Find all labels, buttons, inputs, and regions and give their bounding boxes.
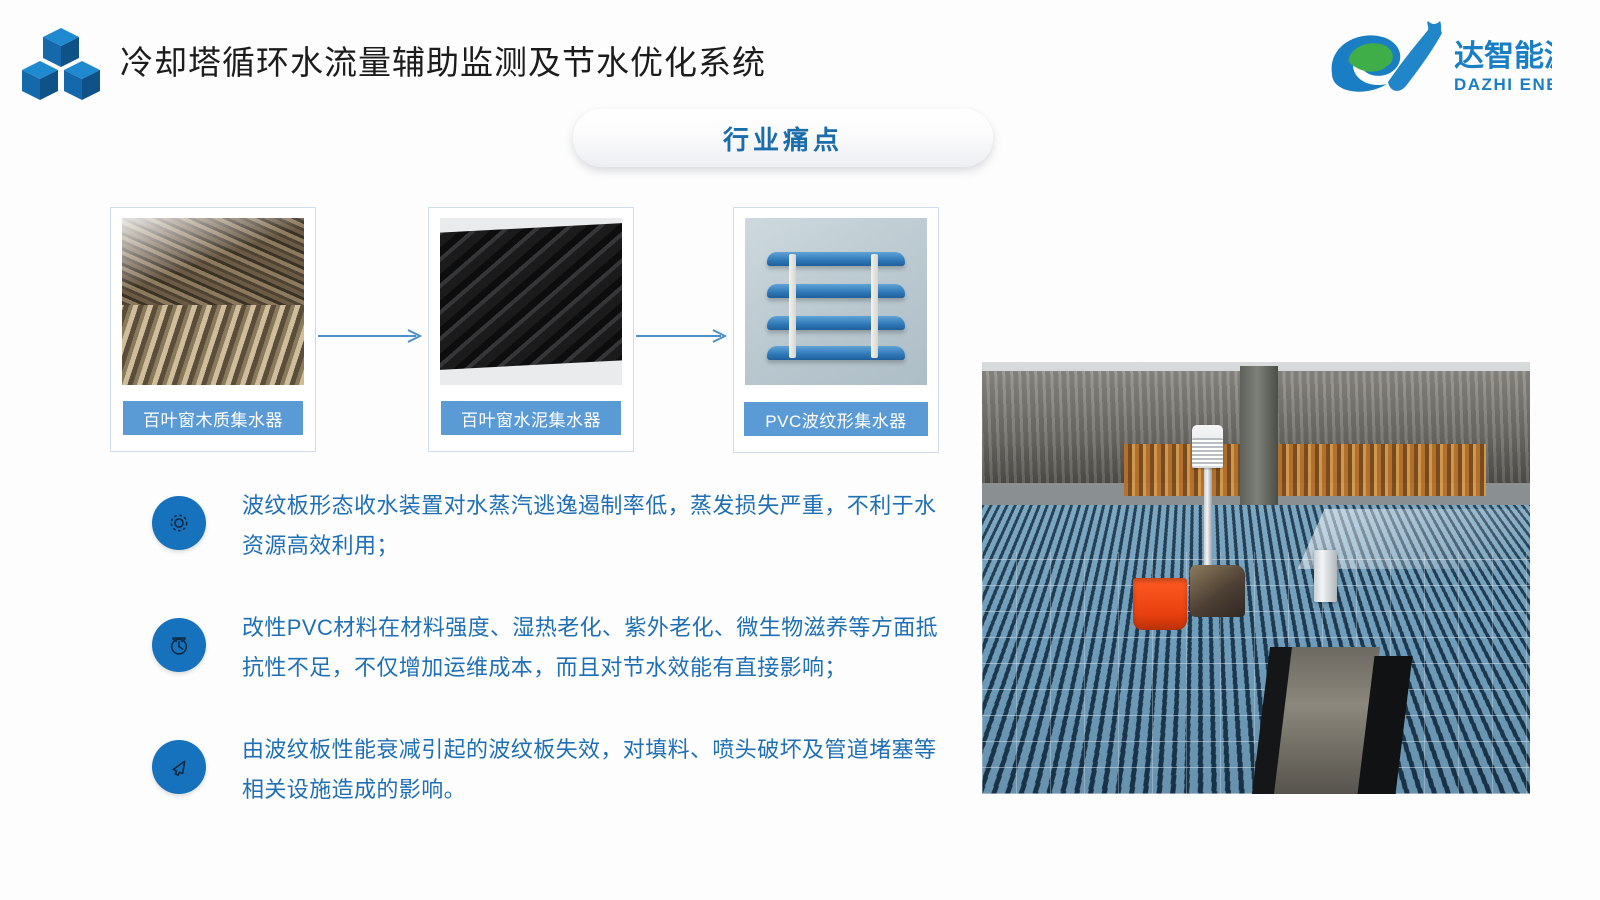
slide-header: 冷却塔循环水流量辅助监测及节水优化系统 达智能源 DAZHI ENERGY — [0, 0, 1600, 118]
list-item-text: 改性PVC材料在材料强度、湿热老化、紫外老化、微生物滋养等方面抵抗性不足，不仅增… — [242, 608, 952, 688]
cursor-pointer-icon — [152, 740, 206, 794]
wooden-louver-collector-photo — [122, 218, 304, 385]
list-item-text: 波纹板形态收水装置对水蒸汽逃逸遏制率低，蒸发损失严重，不利于水资源高效利用； — [242, 486, 952, 566]
alarm-clock-icon — [152, 618, 206, 672]
list-item-text: 由波纹板性能衰减引起的波纹板失效，对填料、喷头破坏及管道堵塞等相关设施造成的影响… — [242, 730, 952, 810]
collector-card-label: 百叶窗水泥集水器 — [441, 401, 621, 435]
company-logo: 达智能源 DAZHI ENERGY — [1302, 16, 1552, 108]
pvc-corrugated-collector-photo — [745, 218, 927, 385]
collector-card-label: PVC波纹形集水器 — [744, 402, 928, 436]
brand-name-cn: 达智能源 — [1454, 40, 1552, 73]
list-item: 由波纹板性能衰减引起的波纹板失效，对填料、喷头破坏及管道堵塞等相关设施造成的影响… — [152, 730, 952, 816]
cooling-tower-interior-photo — [982, 362, 1530, 794]
list-item: 波纹板形态收水装置对水蒸汽逃逸遏制率低，蒸发损失严重，不利于水资源高效利用； — [152, 486, 952, 572]
brand-name-en: DAZHI ENERGY — [1454, 75, 1552, 94]
section-title-label: 行业痛点 — [723, 120, 843, 157]
section-title-pill: 行业痛点 — [573, 109, 993, 167]
page-title: 冷却塔循环水流量辅助监测及节水优化系统 — [120, 42, 766, 84]
stacked-cubes-icon — [18, 24, 104, 102]
collector-card-label: 百叶窗木质集水器 — [123, 401, 303, 435]
list-item: 改性PVC材料在材料强度、湿热老化、紫外老化、微生物滋养等方面抵抗性不足，不仅增… — [152, 608, 952, 694]
cement-louver-collector-photo — [440, 218, 622, 385]
pain-point-list: 波纹板形态收水装置对水蒸汽逃逸遏制率低，蒸发损失严重，不利于水资源高效利用； 改… — [152, 486, 952, 852]
collector-card-wooden[interactable]: 百叶窗木质集水器 — [110, 207, 316, 452]
collector-card-pvc[interactable]: PVC波纹形集水器 — [733, 207, 939, 453]
flow-arrow-card2-to-card3 — [636, 328, 731, 344]
gear-icon — [152, 496, 206, 550]
collector-card-cement[interactable]: 百叶窗水泥集水器 — [428, 207, 634, 452]
slide-root: 冷却塔循环水流量辅助监测及节水优化系统 达智能源 DAZHI ENERGY 行业… — [0, 0, 1600, 900]
flow-arrow-card1-to-card2 — [318, 328, 426, 344]
